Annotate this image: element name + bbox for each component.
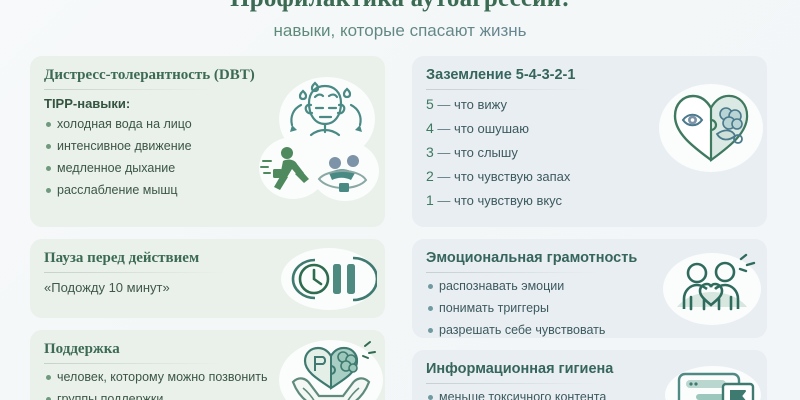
step-text: что слышу xyxy=(454,145,518,160)
step-dash: — xyxy=(437,97,450,112)
left-column: Дистресс-толерантность (DBT) TIPP-навыки… xyxy=(30,56,385,400)
bullet-list-information-hygiene: меньше токсичного контента xyxy=(426,390,666,400)
list-item: 3 — что слышу xyxy=(426,144,656,161)
heart-puzzle-eye-brain-icon xyxy=(659,84,763,172)
card-emotional-literacy: Эмоциональная грамотность распознавать э… xyxy=(412,239,767,338)
divider xyxy=(44,272,224,273)
clock-pause-icon xyxy=(281,248,377,310)
step-dash: — xyxy=(437,169,450,184)
divider xyxy=(426,383,599,384)
card-grounding-54321: Заземление 5-4-3-2-1 5 — что вижу 4 — чт… xyxy=(412,56,767,227)
step-dash: — xyxy=(437,145,450,160)
card-title-emotional-literacy: Эмоциональная грамотность xyxy=(426,249,666,267)
divider xyxy=(44,89,211,90)
right-column: Заземление 5-4-3-2-1 5 — что вижу 4 — чт… xyxy=(412,56,767,400)
step-dash: — xyxy=(437,193,450,208)
card-pause-before-action: Пауза перед действием «Подожду 10 минут» xyxy=(30,239,385,318)
page-subtitle: навыки, которые спасают жизнь xyxy=(0,20,800,42)
list-item: 1 — что чувствую вкус xyxy=(426,192,656,209)
list-item: разрешать себе чувствовать xyxy=(426,323,666,338)
step-text: что вижу xyxy=(454,97,507,112)
page-title: Профилактика аутоагрессии: xyxy=(0,0,800,14)
list-item: 5 — что вижу xyxy=(426,96,656,113)
list-item: меньше токсичного контента xyxy=(426,390,666,400)
step-dash: — xyxy=(437,121,450,136)
divider xyxy=(426,272,599,273)
browser-window-flag-icon xyxy=(665,366,761,400)
list-item: человек, которому можно позвонить xyxy=(44,370,292,385)
card-title-information-hygiene: Информационная гигиена xyxy=(426,360,666,378)
step-text: что чувствую вкус xyxy=(454,193,562,208)
step-number: 2 xyxy=(426,168,434,184)
hands-holding-heart-puzzle-icon xyxy=(279,340,383,400)
bullet-list-emotional-literacy: распознавать эмоции понимать триггеры ра… xyxy=(426,279,666,338)
pause-quote: «Подожду 10 минут» xyxy=(44,279,294,296)
bullet-list-tipp: холодная вода на лицо интенсивное движен… xyxy=(44,117,276,198)
step-number: 5 xyxy=(426,96,434,112)
card-title-distress-tolerance: Дистресс-толерантность (DBT) xyxy=(44,66,276,84)
list-item: холодная вода на лицо xyxy=(44,117,276,132)
step-number: 1 xyxy=(426,192,434,208)
card-information-hygiene: Информационная гигиена меньше токсичного… xyxy=(412,350,767,400)
list-item: 2 — что чувствую запах xyxy=(426,168,656,185)
list-item: понимать триггеры xyxy=(426,301,666,316)
card-distress-tolerance: Дистресс-толерантность (DBT) TIPP-навыки… xyxy=(30,56,385,227)
tipp-skills-label: TIPP-навыки: xyxy=(44,96,276,112)
step-text: что ошушаю xyxy=(454,121,529,136)
divider xyxy=(426,89,592,90)
grounding-steps-list: 5 — что вижу 4 — что ошушаю 3 — что слыш… xyxy=(426,96,656,209)
two-people-heart-icon xyxy=(663,253,761,325)
list-item: медленное дыхание xyxy=(44,161,276,176)
list-item: расслабление мышц xyxy=(44,183,276,198)
list-item: 4 — что ошушаю xyxy=(426,120,656,137)
step-text: что чувствую запах xyxy=(454,169,570,184)
list-item: интенсивное движение xyxy=(44,139,276,154)
divider xyxy=(44,363,223,364)
step-number: 3 xyxy=(426,144,434,160)
step-number: 4 xyxy=(426,120,434,136)
card-title-support: Поддержка xyxy=(44,340,292,358)
stressed-face-running-swimming-icon xyxy=(259,75,379,215)
card-title-grounding: Заземление 5-4-3-2-1 xyxy=(426,66,656,84)
page-header: Профилактика аутоагрессии: навыки, котор… xyxy=(0,0,800,42)
list-item: распознавать эмоции xyxy=(426,279,666,294)
card-support: Поддержка человек, которому можно позвон… xyxy=(30,330,385,400)
list-item: группы подлержки xyxy=(44,392,292,400)
bullet-list-support: человек, которому можно позвонить группы… xyxy=(44,370,292,400)
card-title-pause-before-action: Пауза перед действием xyxy=(44,249,294,267)
